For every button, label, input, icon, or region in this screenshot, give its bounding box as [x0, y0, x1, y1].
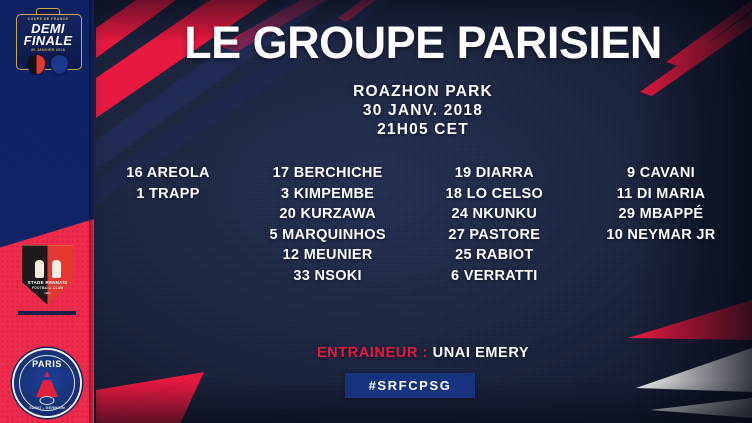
- player-entry: 33 NSOKI: [253, 266, 403, 287]
- player-entry: 16 AREOLA: [100, 163, 236, 184]
- player-entry: 1 TRAPP: [100, 184, 236, 205]
- hermine-figures-icon: [35, 260, 61, 280]
- player-entry: 29 MBAPPÉ: [586, 204, 736, 225]
- competition-badge-sub-text: 30 JANVIER 2018: [12, 48, 84, 52]
- player-entry: 5 MARQUINHOS: [253, 225, 403, 246]
- player-entry: 18 LO CELSO: [419, 184, 569, 205]
- match-details: ROAZHON PARK 30 JANV. 2018 21H05 CET: [94, 82, 752, 139]
- rennes-name-line2: FOOTBALL CLUB: [20, 286, 75, 290]
- player-entry: 11 DI MARIA: [586, 184, 736, 205]
- rennes-name-line1: STADE RENNAIS: [20, 280, 75, 285]
- cradle-icon: [40, 396, 55, 405]
- player-entry: 19 DIARRA: [419, 163, 569, 184]
- left-sidebar: COUPE DE FRANCE DEMI FINALE 30 JANVIER 2…: [0, 0, 94, 423]
- eiffel-tower-icon: [36, 371, 58, 397]
- competition-badge-club-icons: [12, 54, 84, 75]
- squad-list: 16 AREOLA 1 TRAPP 17 BERCHICHE 3 KIMPEMB…: [100, 163, 736, 286]
- venue-time: 21H05 CET: [94, 120, 752, 139]
- page-title: LE GROUPE PARISIEN: [94, 20, 752, 65]
- psg-crest: PARIS SAINT - GERMAIN: [14, 350, 80, 416]
- player-entry: 6 VERRATTI: [419, 266, 569, 287]
- player-entry: 3 KIMPEMBE: [253, 184, 403, 205]
- player-entry: 9 CAVANI: [586, 163, 736, 184]
- psg-crest-icon: [50, 54, 69, 75]
- sidebar-divider: [18, 311, 76, 315]
- eiffel-tower-detail: [39, 377, 55, 380]
- coach-line: ENTRAINEUR : UNAI EMERY: [94, 345, 752, 361]
- player-entry: 24 NKUNKU: [419, 204, 569, 225]
- player-entry: 12 MEUNIER: [253, 245, 403, 266]
- rennes-name-line3: 1901: [20, 291, 75, 295]
- player-entry: 27 PASTORE: [419, 225, 569, 246]
- player-entry: 10 NEYMAR JR: [586, 225, 736, 246]
- competition-badge: COUPE DE FRANCE DEMI FINALE 30 JANVIER 2…: [12, 6, 84, 76]
- stade-rennais-crest: STADE RENNAIS FOOTBALL CLUB 1901: [20, 244, 75, 306]
- coach-name: UNAI EMERY: [433, 345, 530, 361]
- venue-stadium: ROAZHON PARK: [94, 82, 752, 101]
- squad-column-forwards: 9 CAVANI 11 DI MARIA 29 MBAPPÉ 10 NEYMAR…: [586, 163, 736, 245]
- squad-column-defenders: 17 BERCHICHE 3 KIMPEMBE 20 KURZAWA 5 MAR…: [253, 163, 403, 286]
- player-entry: 17 BERCHICHE: [253, 163, 403, 184]
- coach-label: ENTRAINEUR :: [317, 345, 428, 361]
- squad-column-midfielders: 19 DIARRA 18 LO CELSO 24 NKUNKU 27 PASTO…: [419, 163, 569, 286]
- hashtag-badge: #SRFCPSG: [345, 373, 475, 398]
- psg-wordmark: PARIS: [14, 359, 80, 369]
- player-entry: 20 KURZAWA: [253, 204, 403, 225]
- player-entry: 25 RABIOT: [419, 245, 569, 266]
- venue-date: 30 JANV. 2018: [94, 101, 752, 120]
- rennes-crest-icon: [27, 54, 46, 75]
- psg-sub-wordmark: SAINT - GERMAIN: [14, 406, 80, 410]
- squad-column-goalkeepers: 16 AREOLA 1 TRAPP: [100, 163, 236, 204]
- competition-badge-line2: FINALE: [12, 34, 84, 47]
- psg-squad-graphic: COUPE DE FRANCE DEMI FINALE 30 JANVIER 2…: [0, 0, 752, 423]
